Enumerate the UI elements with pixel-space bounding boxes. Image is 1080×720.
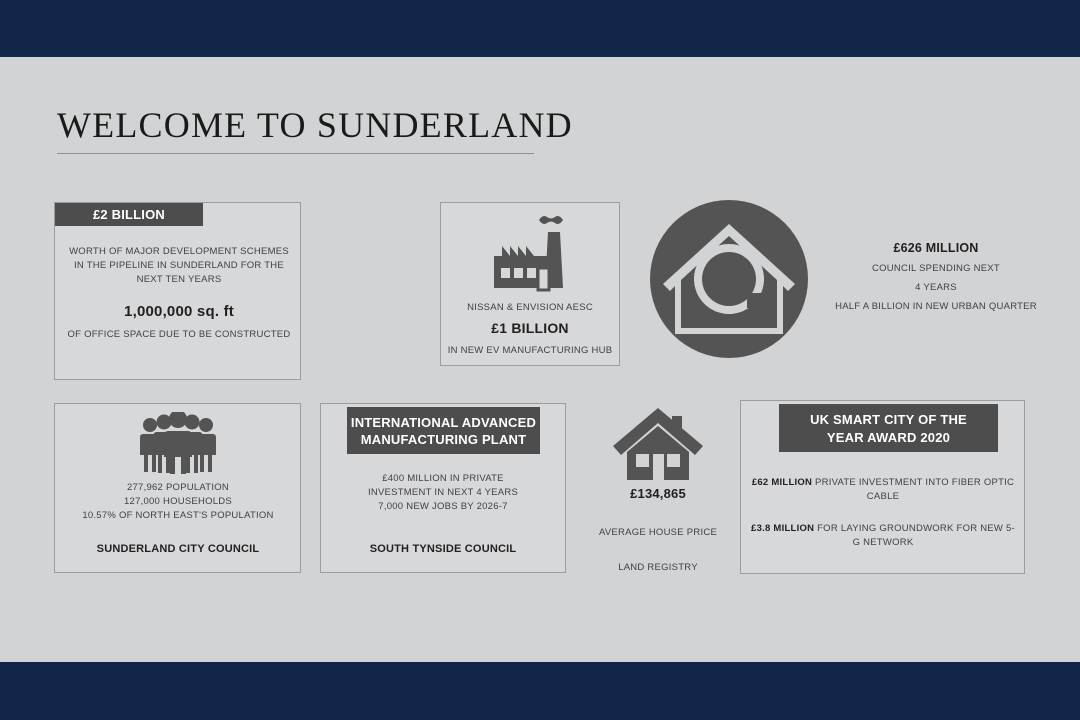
house-icon bbox=[613, 404, 703, 480]
development-office-figure: 1,000,000 sq. ft bbox=[64, 303, 294, 320]
iamp-stat-3: 7,000 NEW JOBS BY 2026-7 bbox=[328, 500, 558, 514]
iamp-footer: SOUTH TYNSIDE COUNCIL bbox=[328, 543, 558, 555]
top-navy-band bbox=[0, 0, 1080, 57]
house-price-source: LAND REGISTRY bbox=[580, 561, 736, 575]
council-spending-block: £626 MILLION COUNCIL SPENDING NEXT 4 YEA… bbox=[818, 241, 1054, 318]
council-spend-line1: COUNCIL SPENDING NEXT bbox=[818, 262, 1054, 276]
iamp-stat-1: £400 MILLION IN PRIVATE bbox=[328, 472, 558, 486]
smart-city-stat-2-text: FOR LAYING GROUNDWORK FOR NEW 5-G NETWOR… bbox=[814, 523, 1015, 548]
title-divider bbox=[57, 153, 534, 154]
badge-iamp: INTERNATIONAL ADVANCED MANUFACTURING PLA… bbox=[347, 407, 540, 454]
badge-iamp-line1: INTERNATIONAL ADVANCED bbox=[347, 414, 540, 431]
ev-partners: NISSAN & ENVISION AESC bbox=[448, 301, 612, 315]
population-stats: 277,962 POPULATION 127,000 HOUSEHOLDS 10… bbox=[62, 481, 294, 522]
development-body-text: WORTH OF MAJOR DEVELOPMENT SCHEMES IN TH… bbox=[64, 245, 294, 286]
badge-iamp-line2: MANUFACTURING PLANT bbox=[347, 431, 540, 448]
smart-city-stat-1-amount: £62 MILLION bbox=[752, 477, 812, 488]
smart-city-stat-2: £3.8 MILLION FOR LAYING GROUNDWORK FOR N… bbox=[748, 522, 1018, 550]
bottom-navy-band bbox=[0, 662, 1080, 720]
house-price-label: AVERAGE HOUSE PRICE bbox=[580, 526, 736, 540]
q-house-logo-icon bbox=[650, 200, 808, 358]
population-stat-3: 10.57% OF NORTH EAST'S POPULATION bbox=[62, 509, 294, 523]
council-spend-figure: £626 MILLION bbox=[818, 241, 1054, 255]
badge-2-billion: £2 BILLION bbox=[55, 203, 203, 226]
population-stat-1: 277,962 POPULATION bbox=[62, 481, 294, 495]
page-title: WELCOME TO SUNDERLAND bbox=[57, 104, 573, 146]
iamp-stat-2: INVESTMENT IN NEXT 4 YEARS bbox=[328, 486, 558, 500]
smart-city-stat-1-text: PRIVATE INVESTMENT INTO FIBER OPTIC CABL… bbox=[812, 477, 1014, 502]
population-stat-2: 127,000 HOUSEHOLDS bbox=[62, 495, 294, 509]
card-development bbox=[54, 202, 301, 380]
council-spend-line3: HALF A BILLION IN NEW URBAN QUARTER bbox=[818, 300, 1054, 314]
house-price-figure: £134,865 bbox=[592, 486, 724, 501]
people-group-icon bbox=[140, 412, 216, 474]
ev-subtext: IN NEW EV MANUFACTURING HUB bbox=[444, 344, 616, 358]
development-office-subtext: OF OFFICE SPACE DUE TO BE CONSTRUCTED bbox=[64, 328, 294, 342]
iamp-stats: £400 MILLION IN PRIVATE INVESTMENT IN NE… bbox=[328, 472, 558, 513]
ev-figure: £1 BILLION bbox=[448, 320, 612, 336]
population-footer: SUNDERLAND CITY COUNCIL bbox=[62, 543, 294, 555]
badge-smart-city-line2: YEAR AWARD 2020 bbox=[779, 429, 998, 447]
smart-city-stat-1: £62 MILLION PRIVATE INVESTMENT INTO FIBE… bbox=[748, 476, 1018, 504]
badge-smart-city-line1: UK SMART CITY OF THE bbox=[779, 411, 998, 429]
council-spend-line2: 4 YEARS bbox=[818, 281, 1054, 295]
factory-icon bbox=[490, 212, 570, 296]
badge-smart-city: UK SMART CITY OF THE YEAR AWARD 2020 bbox=[779, 404, 998, 452]
smart-city-stat-2-amount: £3.8 MILLION bbox=[751, 523, 814, 534]
